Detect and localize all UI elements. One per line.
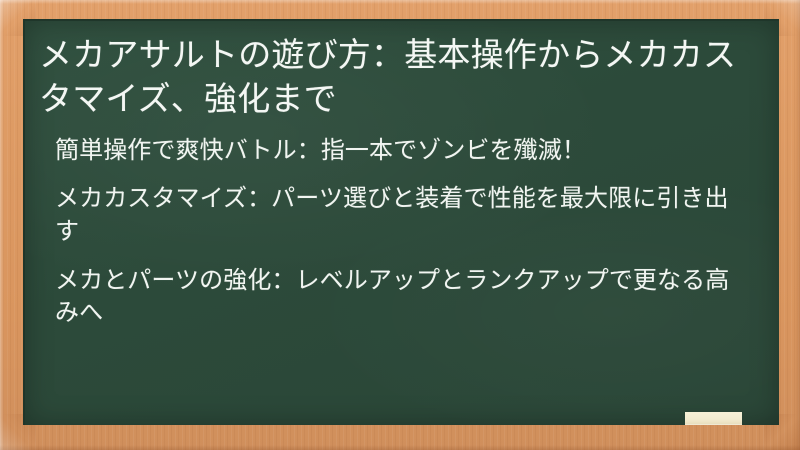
frame-bottom-shadow (0, 445, 800, 450)
chalkboard-surface: メカアサルトの遊び方：基本操作からメカカスタマイズ、強化まで 簡単操作で爽快バト… (23, 19, 779, 425)
bullet-list: 簡単操作で爽快バトル：指一本でゾンビを殲滅！ メカカスタマイズ：パーツ選びと装着… (39, 135, 765, 330)
frame-left-highlight (0, 0, 4, 450)
board-content: メカアサルトの遊び方：基本操作からメカカスタマイズ、強化まで 簡単操作で爽快バト… (25, 21, 779, 425)
frame-top-highlight (0, 0, 800, 4)
list-item: メカカスタマイズ：パーツ選びと装着で性能を最大限に引き出す (55, 183, 745, 248)
chalkboard-slide: メカアサルトの遊び方：基本操作からメカカスタマイズ、強化まで 簡単操作で爽快バト… (0, 0, 800, 450)
list-item: メカとパーツの強化：レベルアップとランクアップで更なる高みへ (55, 265, 745, 330)
list-item: 簡単操作で爽快バトル：指一本でゾンビを殲滅！ (55, 135, 745, 168)
frame-right-shadow (795, 0, 800, 450)
chalk-stick-icon (685, 412, 742, 425)
slide-title: メカアサルトの遊び方：基本操作からメカカスタマイズ、強化まで (39, 33, 739, 121)
